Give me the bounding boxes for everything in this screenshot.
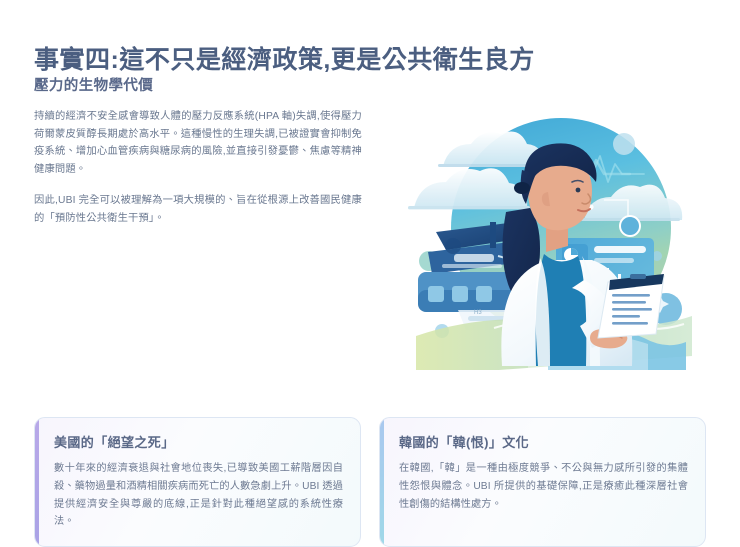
clipboard	[598, 274, 664, 338]
body-paragraph-2: 因此,UBI 完全可以被理解為一項大規模的、旨在從根源上改善國民健康的「預防性公…	[34, 192, 362, 227]
left-text-column: 壓力的生物學代價 持續的經濟不安全感會導致人體的壓力反應系統(HPA 軸)失調,…	[34, 74, 362, 227]
slide-root: 事實四:這不只是經濟政策,更是公共衛生良方 壓力的生物學代價 持續的經濟不安全感…	[0, 0, 740, 540]
insight-cards: 美國的「絕望之死」 數十年來的經濟衰退與社會地位喪失,已導致美國工薪階層因自殺、…	[34, 417, 706, 547]
page-title: 事實四:這不只是經濟政策,更是公共衛生良方	[34, 40, 535, 76]
card-body: 數十年來的經濟衰退與社會地位喪失,已導致美國工薪階層因自殺、藥物過量和酒精相關疾…	[54, 460, 343, 531]
section-heading: 壓力的生物學代價	[34, 74, 362, 95]
body-paragraph-1: 持續的經濟不安全感會導致人體的壓力反應系統(HPA 軸)失調,使得壓力荷爾蒙皮質…	[34, 108, 362, 179]
card-korea-han-culture[interactable]: 韓國的「韓(恨)」文化 在韓國,「韓」是一種由極度競爭、不公與無力感所引發的集體…	[379, 417, 706, 547]
card-title: 韓國的「韓(恨)」文化	[399, 432, 688, 451]
health-illustration: H3	[398, 104, 704, 370]
card-america-deaths-of-despair[interactable]: 美國的「絕望之死」 數十年來的經濟衰退與社會地位喪失,已導致美國工薪階層因自殺、…	[34, 417, 361, 547]
card-title: 美國的「絕望之死」	[54, 432, 343, 451]
card-body: 在韓國,「韓」是一種由極度競爭、不公與無力感所引發的集體性怨恨與體念。UBI 所…	[399, 460, 688, 513]
svg-text:H3: H3	[474, 310, 482, 316]
